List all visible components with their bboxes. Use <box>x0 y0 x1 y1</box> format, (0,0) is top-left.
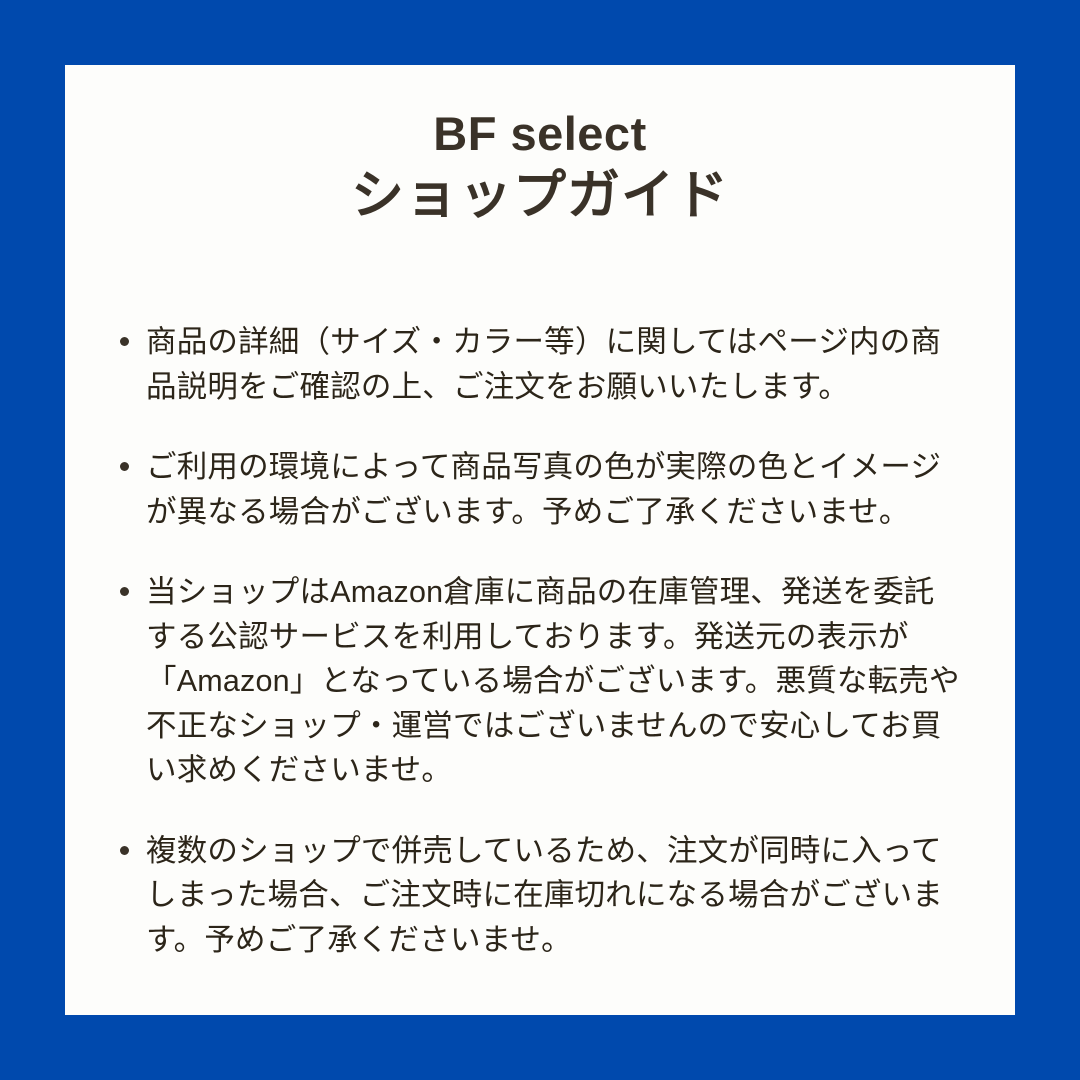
brand-title: BF select <box>65 105 1015 162</box>
bullet-dot-icon <box>120 320 146 346</box>
shop-guide-notes-list: 商品の詳細（サイズ・カラー等）に関してはページ内の商品説明をご確認の上、ご注文を… <box>120 320 960 998</box>
list-item: 商品の詳細（サイズ・カラー等）に関してはページ内の商品説明をご確認の上、ご注文を… <box>120 320 960 409</box>
bullet-dot-icon <box>120 829 146 855</box>
white-content-panel: BF select ショップガイド 商品の詳細（サイズ・カラー等）に関してはペー… <box>65 65 1015 1015</box>
page-title: BF select ショップガイド <box>65 105 1015 230</box>
note-text: 商品の詳細（サイズ・カラー等）に関してはページ内の商品説明をご確認の上、ご注文を… <box>146 320 960 409</box>
list-item: ご利用の環境によって商品写真の色が実際の色とイメージが異なる場合がございます。予… <box>120 445 960 534</box>
bullet-dot-icon <box>120 445 146 471</box>
note-text: 当ショップはAmazon倉庫に商品の在庫管理、発送を委託する公認サービスを利用し… <box>146 570 960 793</box>
note-text: ご利用の環境によって商品写真の色が実際の色とイメージが異なる場合がございます。予… <box>146 445 960 534</box>
list-item: 複数のショップで併売しているため、注文が同時に入ってしまった場合、ご注文時に在庫… <box>120 829 960 963</box>
guide-title: ショップガイド <box>65 162 1015 230</box>
bullet-dot-icon <box>120 570 146 596</box>
blue-frame: BF select ショップガイド 商品の詳細（サイズ・カラー等）に関してはペー… <box>0 0 1080 1080</box>
list-item: 当ショップはAmazon倉庫に商品の在庫管理、発送を委託する公認サービスを利用し… <box>120 570 960 793</box>
note-text: 複数のショップで併売しているため、注文が同時に入ってしまった場合、ご注文時に在庫… <box>146 829 960 963</box>
